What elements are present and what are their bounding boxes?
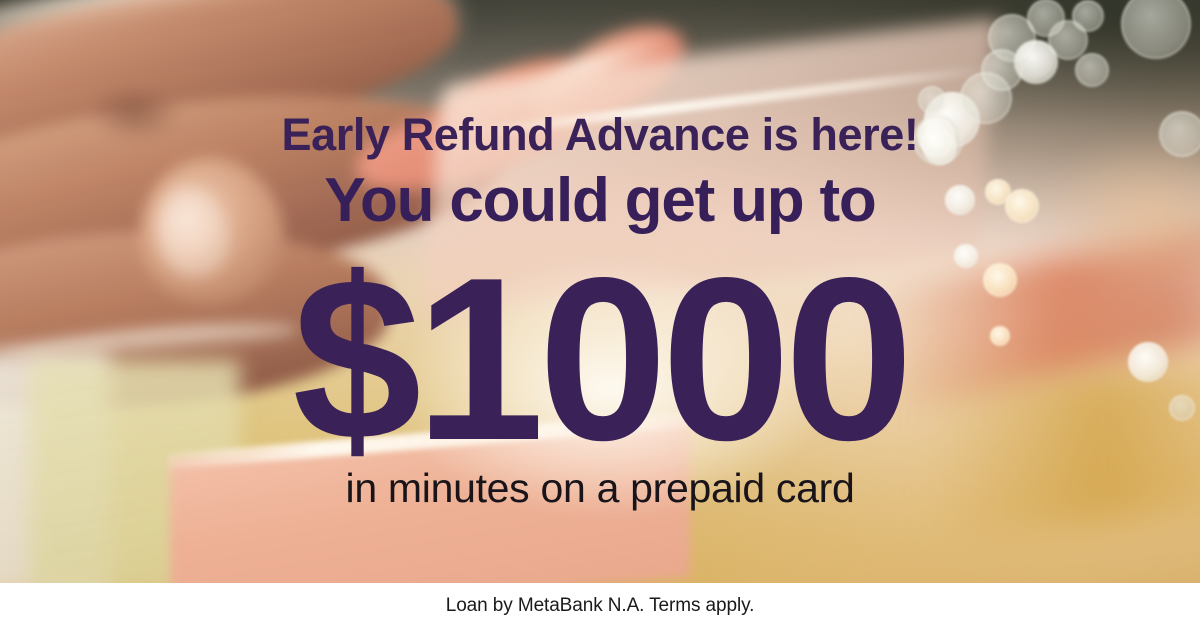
legal-disclaimer: Loan by MetaBank N.A. Terms apply. [446, 595, 755, 617]
subline-text: in minutes on a prepaid card [0, 468, 1200, 509]
promo-banner: Early Refund Advance is here! You could … [0, 0, 1200, 628]
footer-bar: Loan by MetaBank N.A. Terms apply. [0, 583, 1200, 628]
eyebrow-headline: Early Refund Advance is here! [0, 112, 1200, 157]
headline-block: Early Refund Advance is here! You could … [0, 0, 1200, 583]
secondary-headline: You could get up to [0, 170, 1200, 232]
amount-headline: $1000 [0, 244, 1200, 476]
